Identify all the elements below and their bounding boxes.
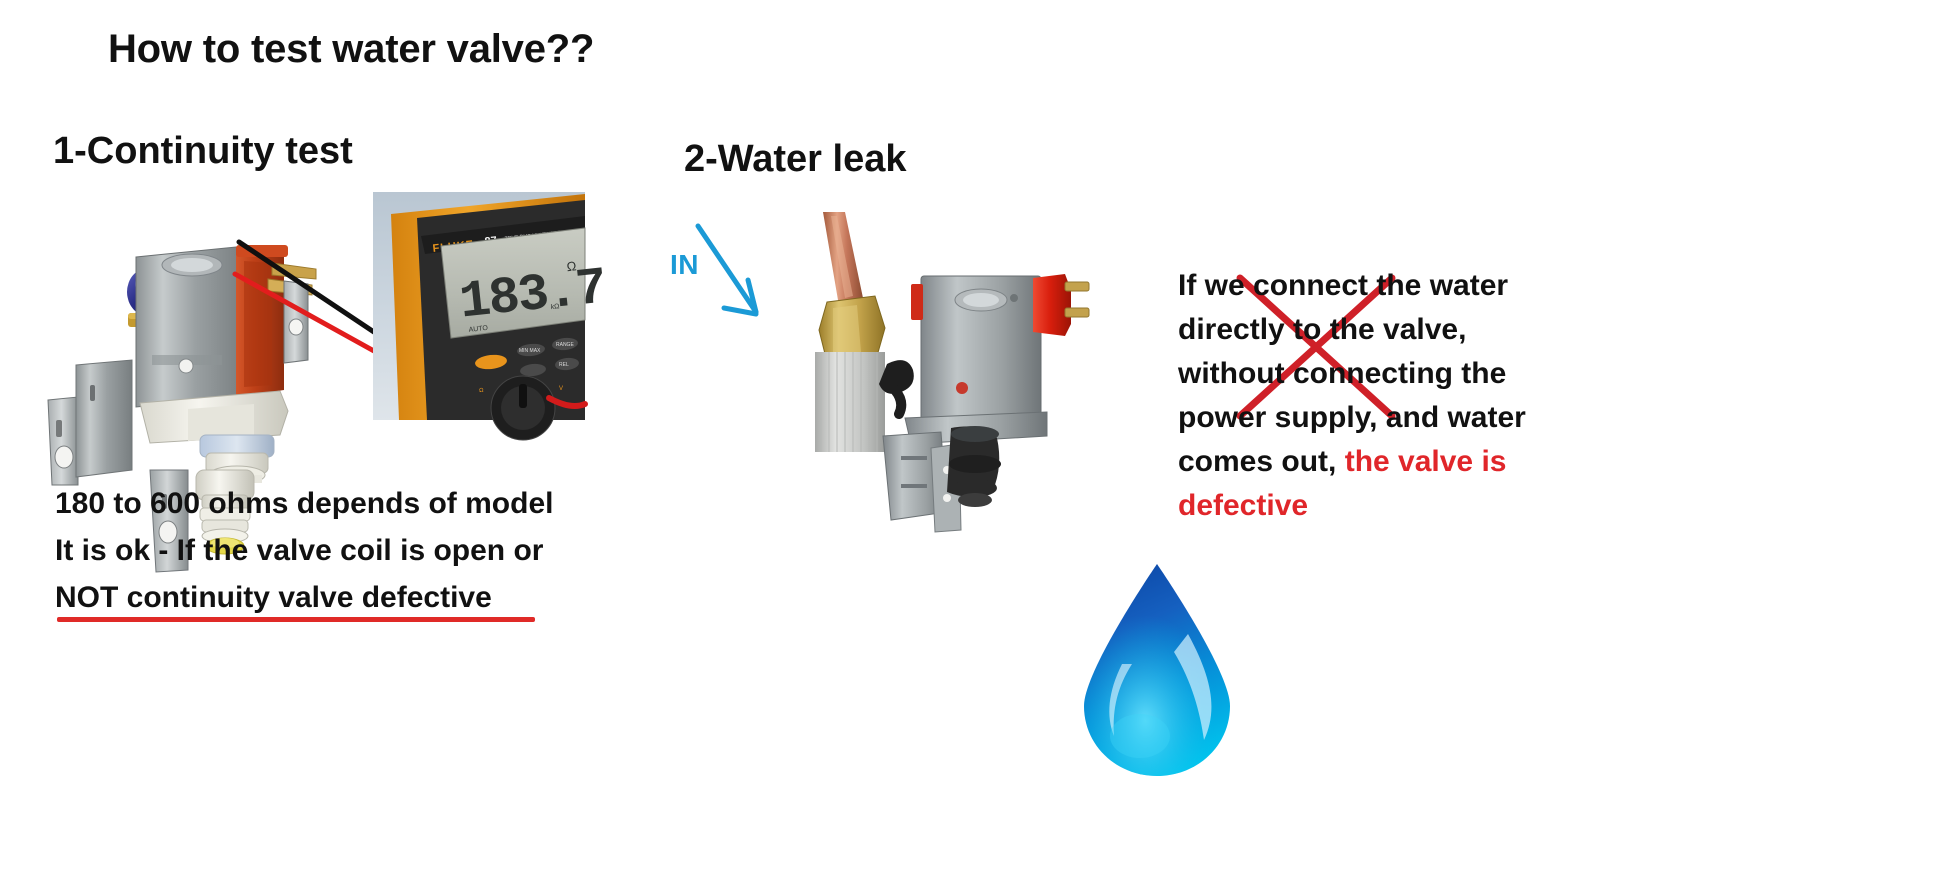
- svg-text:REL: REL: [559, 362, 569, 368]
- note-line-3: NOT continuity valve defective: [55, 574, 675, 621]
- page-title: How to test water valve??: [108, 27, 594, 72]
- svg-text:RANGE: RANGE: [556, 342, 574, 348]
- svg-text:Ω: Ω: [479, 388, 484, 394]
- section-two-heading: 2-Water leak: [684, 138, 906, 181]
- note-line-2: It is ok - If the valve coil is open or: [55, 527, 675, 574]
- red-underline: [57, 617, 535, 622]
- section-one-heading: 1-Continuity test: [53, 130, 353, 173]
- water-droplet-icon: [1062, 560, 1252, 780]
- continuity-notes: 180 to 600 ohms depends of model It is o…: [55, 480, 675, 621]
- note-line-1: 180 to 600 ohms depends of model: [55, 480, 675, 527]
- leak-valve-image: [735, 212, 1065, 532]
- svg-text:Ω: Ω: [566, 258, 578, 274]
- svg-text:V: V: [559, 386, 563, 392]
- defective-valve-note: If we connect the water directly to the …: [1178, 264, 1558, 528]
- svg-text:kΩ: kΩ: [550, 303, 559, 311]
- svg-text:MIN MAX: MIN MAX: [519, 348, 541, 354]
- multimeter-image: FLUKE 87 TRUE RMS MULTIMETER 183.7 Ω kΩ …: [373, 192, 585, 420]
